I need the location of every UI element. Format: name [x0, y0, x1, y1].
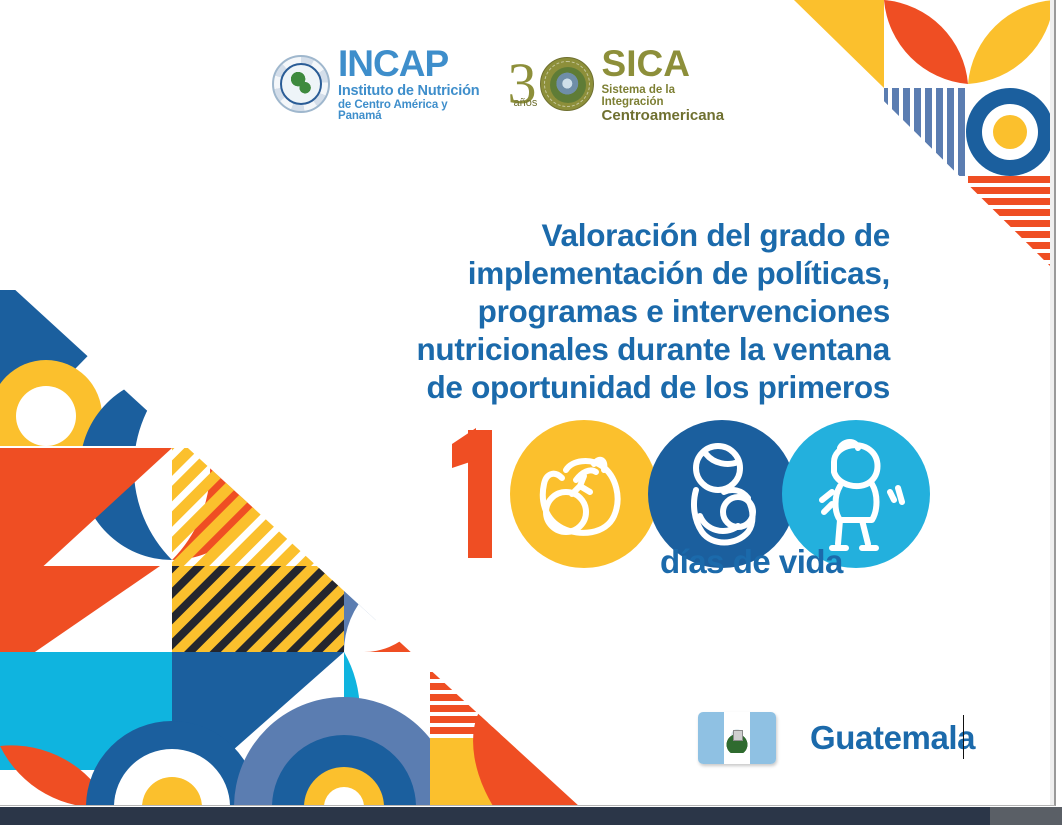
- lockup-caption: días de vida: [660, 543, 843, 581]
- country-block: Guatemala: [698, 712, 975, 764]
- sica-subtitle-2: Centroamericana: [602, 108, 727, 123]
- icon-circle-fetus: [510, 420, 658, 568]
- title-line-3: programas e intervenciones: [120, 292, 890, 330]
- viewer-bottom-bar[interactable]: [0, 807, 1062, 825]
- logo-sica: 3 años SICA Sistema de la Integración Ce…: [508, 45, 727, 123]
- sica-anniversary-word: años: [514, 97, 538, 109]
- scrollbar-track[interactable]: [1050, 0, 1054, 806]
- incap-subtitle-1: Instituto de Nutrición: [338, 84, 482, 99]
- cover-sheet: INCAP Instituto de Nutrición de Centro A…: [0, 0, 1056, 806]
- text-cursor: [963, 715, 964, 759]
- title-line-1: Valoración del grado de: [120, 216, 890, 254]
- cover-title: Valoración del grado de implementación d…: [120, 216, 890, 406]
- title-line-4: nutricionales durante la ventana: [120, 330, 890, 368]
- incap-subtitle-2: de Centro América y Panamá: [338, 100, 482, 123]
- guatemala-flag-icon: [698, 712, 776, 764]
- title-line-5: de oportunidad de los primeros: [120, 368, 890, 406]
- country-name: Guatemala: [810, 719, 975, 757]
- numeral-one: [452, 424, 494, 558]
- incap-seal-icon: [272, 55, 330, 113]
- title-line-2: implementación de políticas,: [120, 254, 890, 292]
- viewer-bar-right-segment[interactable]: [990, 807, 1062, 825]
- incap-wordmark: INCAP: [338, 45, 482, 82]
- sica-emblem-icon: 3 años: [508, 53, 594, 115]
- header-logos: INCAP Instituto de Nutrición de Centro A…: [272, 48, 727, 120]
- document-page-view: INCAP Instituto de Nutrición de Centro A…: [0, 0, 1062, 825]
- sica-subtitle-1: Sistema de la Integración: [602, 85, 727, 108]
- logo-incap: INCAP Instituto de Nutrición de Centro A…: [272, 45, 482, 123]
- sica-wordmark: SICA: [602, 45, 727, 82]
- country-name-text: Guatemala: [810, 719, 975, 756]
